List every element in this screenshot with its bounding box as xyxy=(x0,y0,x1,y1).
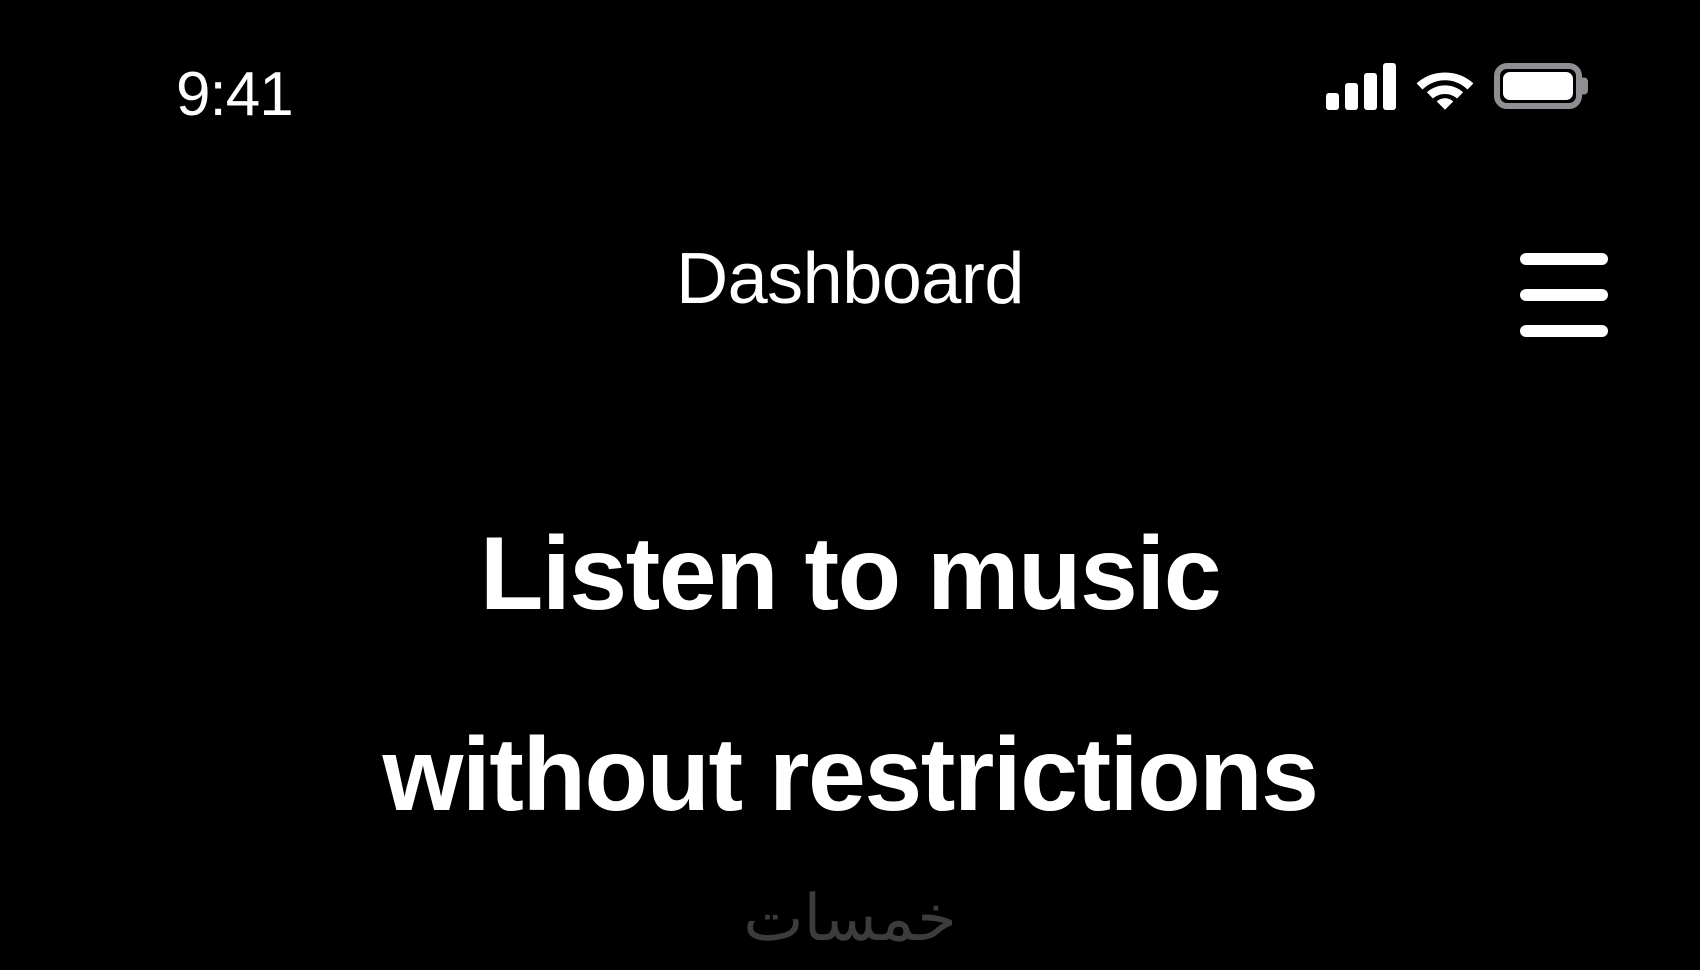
status-bar-icons xyxy=(1326,62,1582,110)
navigation-bar: Dashboard xyxy=(0,215,1700,375)
battery-fill-level xyxy=(1503,72,1573,100)
signal-bar-4 xyxy=(1383,63,1396,110)
hero-line-1: Listen to music xyxy=(480,516,1220,632)
khamsat-watermark: خمسات xyxy=(0,886,1700,950)
hero-line-gap xyxy=(0,658,1700,716)
signal-bar-2 xyxy=(1345,83,1358,110)
menu-line-2 xyxy=(1520,289,1608,301)
signal-bar-3 xyxy=(1364,73,1377,110)
signal-bar-1 xyxy=(1326,93,1339,110)
page-title: Dashboard xyxy=(0,243,1700,315)
wifi-icon xyxy=(1414,62,1476,110)
menu-line-3 xyxy=(1520,325,1608,337)
cellular-signal-icon xyxy=(1326,62,1396,110)
battery-icon xyxy=(1494,63,1582,109)
hero-heading: Listen to music without restrictions xyxy=(0,490,1700,835)
menu-line-1 xyxy=(1520,253,1608,265)
app-screen: 9:41 Dashboard xyxy=(0,0,1700,970)
battery-cap xyxy=(1581,78,1588,95)
hero-line-2: without restrictions xyxy=(383,717,1318,833)
hamburger-menu-icon[interactable] xyxy=(1498,245,1608,345)
status-bar: 9:41 xyxy=(0,0,1700,175)
status-bar-time: 9:41 xyxy=(176,64,293,126)
